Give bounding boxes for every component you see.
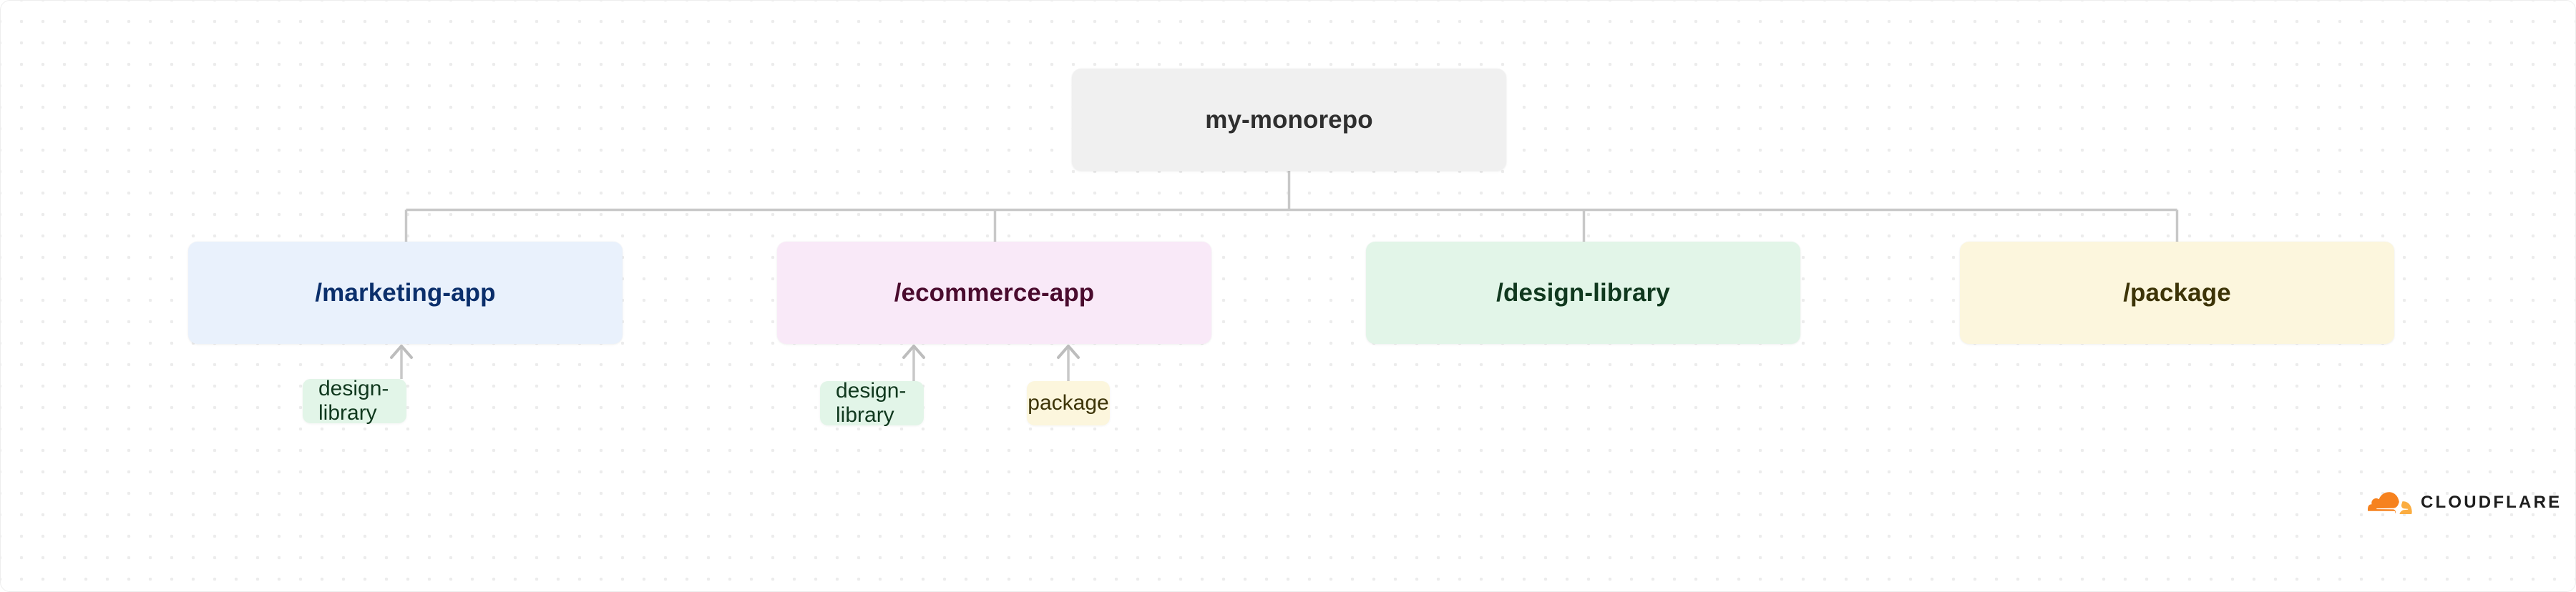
node-label: /marketing-app xyxy=(315,279,495,307)
cloudflare-logo: CLOUDFLARE xyxy=(2368,491,2562,514)
cloudflare-wordmark: CLOUDFLARE xyxy=(2421,494,2562,511)
cloud-accent-shape xyxy=(2399,501,2411,514)
node-marketing-app[interactable]: /marketing-app xyxy=(188,242,623,344)
node-package[interactable]: /package xyxy=(1960,242,2394,344)
dependency-badge-label: design-library xyxy=(836,379,908,428)
arrowhead-dep-ecommerce-design xyxy=(904,346,924,357)
node-label: my-monorepo xyxy=(1205,106,1372,134)
arrowhead-dep-ecommerce-package xyxy=(1058,346,1078,357)
node-design-library[interactable]: /design-library xyxy=(1366,242,1800,344)
cloudflare-cloud-icon xyxy=(2368,491,2412,514)
node-root-my-monorepo[interactable]: my-monorepo xyxy=(1072,69,1506,171)
arrowhead-dep-marketing-design xyxy=(391,346,411,357)
dependency-badge-label: package xyxy=(1028,391,1108,415)
node-label: /ecommerce-app xyxy=(894,279,1095,307)
node-label: /design-library xyxy=(1496,279,1670,307)
dependency-badge-label: design-library xyxy=(318,377,391,425)
dependency-badge-marketing-design-library[interactable]: design-library xyxy=(303,379,406,423)
dependency-badge-ecommerce-design-library[interactable]: design-library xyxy=(820,381,924,425)
dependency-badge-ecommerce-package[interactable]: package xyxy=(1027,381,1110,425)
diagram-canvas: my-monorepo /marketing-app /ecommerce-ap… xyxy=(0,0,2576,592)
node-ecommerce-app[interactable]: /ecommerce-app xyxy=(777,242,1211,344)
node-label: /package xyxy=(2123,279,2231,307)
cloud-main-shape xyxy=(2368,492,2399,513)
